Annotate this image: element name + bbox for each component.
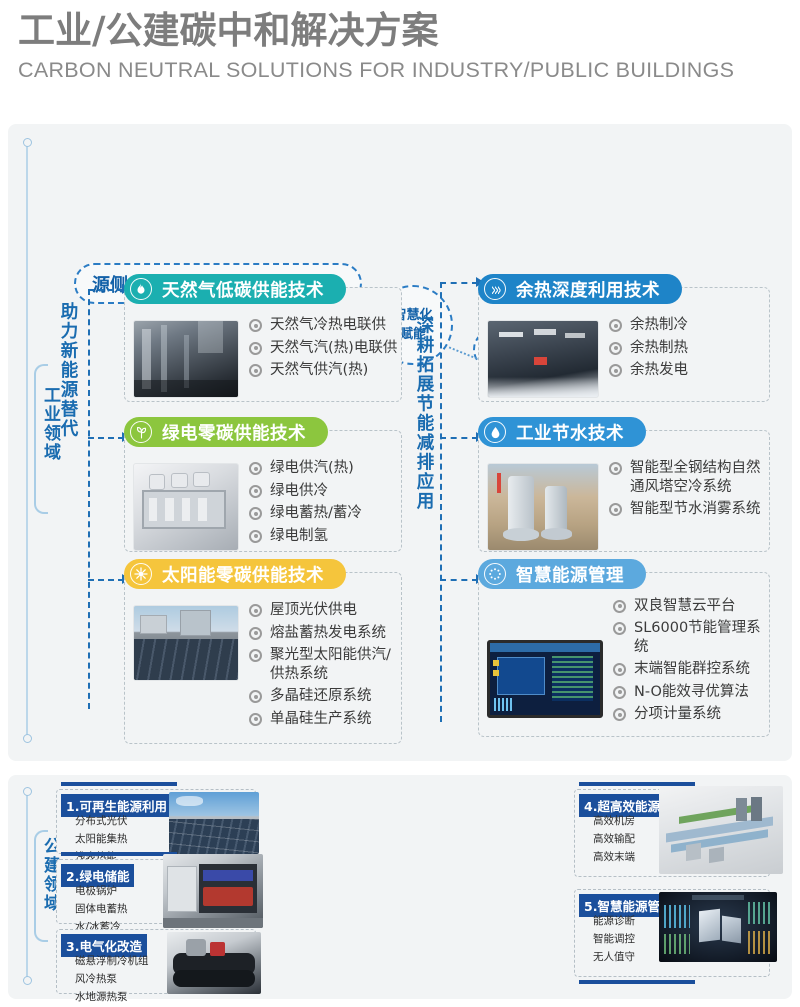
list-item: 绿电供汽(热) bbox=[249, 459, 401, 478]
bullet-ring-icon bbox=[613, 686, 626, 699]
list-item: 太阳能集热 bbox=[75, 830, 128, 848]
sprout-icon bbox=[130, 421, 152, 443]
card-waste-heat-items: 余热制冷 余热制热 余热发电 bbox=[599, 314, 769, 397]
bullet-ring-icon bbox=[249, 649, 262, 662]
card-solar-header[interactable]: 太阳能零碳供能技术 bbox=[124, 559, 346, 589]
list-item: 多晶硅还原系统 bbox=[249, 687, 401, 706]
bullet-ring-icon bbox=[249, 530, 262, 543]
list-item: 天然气冷热电联供 bbox=[249, 316, 401, 335]
card-green-power-header[interactable]: 绿电零碳供能技术 bbox=[124, 417, 328, 447]
list-item: 余热发电 bbox=[609, 361, 769, 380]
list-item: 屋顶光伏供电 bbox=[249, 601, 401, 620]
list-item: 绿电供冷 bbox=[249, 482, 401, 501]
mid-flow-label: 深耕拓展节能减排应用 bbox=[412, 316, 437, 511]
infographic-page: 工业/公建碳中和解决方案 CARBON NEUTRAL SOLUTIONS FO… bbox=[0, 0, 800, 1007]
card-green-power-items: 绿电供汽(热) 绿电供冷 绿电蓄热/蓄冷 绿电制氢 bbox=[239, 457, 401, 547]
page-title-en: CARBON NEUTRAL SOLUTIONS FOR INDUSTRY/PU… bbox=[18, 58, 788, 83]
card-green-power-title: 绿电零碳供能技术 bbox=[162, 420, 306, 445]
pcard-renewable-energy[interactable]: 1.可再生能源利用 分布式光伏 太阳能集热 浅表热能 bbox=[56, 789, 256, 854]
card-solar-items: 屋顶光伏供电 熔盐蓄热发电系统 聚光型太阳能供汽/供热系统 多晶硅还原系统 单晶… bbox=[239, 599, 401, 739]
rooftop-solar-photo bbox=[133, 605, 239, 681]
card-waste-heat[interactable]: 余热深度利用技术 余热制冷 余热制热 余热发电 bbox=[478, 287, 770, 402]
card-water-saving-items: 智能型全钢结构自然通风塔空冷系统 智能型节水消雾系统 bbox=[599, 457, 769, 547]
waste-heat-plant-photo bbox=[487, 320, 599, 398]
bullet-ring-icon bbox=[249, 713, 262, 726]
bullet-ring-icon bbox=[249, 507, 262, 520]
list-item: N-O能效寻优算法 bbox=[613, 683, 769, 702]
bullet-ring-icon bbox=[609, 342, 622, 355]
list-item: 无人值守 bbox=[593, 948, 635, 966]
pcard-top-bar bbox=[61, 782, 177, 786]
list-item: 水地源热泵 bbox=[75, 988, 149, 1006]
bullet-ring-icon bbox=[249, 462, 262, 475]
bullet-ring-icon bbox=[249, 485, 262, 498]
list-item: SL6000节能管理系统 bbox=[613, 619, 769, 656]
list-item: 智能调控 bbox=[593, 930, 635, 948]
pcard-electrification[interactable]: 3.电气化改造 磁悬浮制冷机组 风冷热泵 水地源热泵 bbox=[56, 929, 256, 994]
list-item: 聚光型太阳能供汽/供热系统 bbox=[249, 646, 401, 683]
bullet-ring-icon bbox=[613, 622, 626, 635]
list-item: 余热制热 bbox=[609, 339, 769, 358]
heat-waves-icon bbox=[484, 278, 506, 300]
card-water-saving-title: 工业节水技术 bbox=[516, 420, 624, 445]
card-smart-energy-header[interactable]: 智慧能源管理 bbox=[478, 559, 646, 589]
list-item: 高效输配 bbox=[593, 830, 635, 848]
natural-gas-plant-photo bbox=[133, 320, 239, 398]
pcard-electrification-items: 磁悬浮制冷机组 风冷热泵 水地源热泵 bbox=[75, 952, 149, 1006]
pcard-bottom-bar bbox=[579, 980, 695, 984]
list-item: 固体电蓄热 bbox=[75, 900, 128, 918]
cooling-tower-photo bbox=[487, 463, 599, 551]
list-item: 电极锅炉 bbox=[75, 882, 128, 900]
list-item: 绿电蓄热/蓄冷 bbox=[249, 504, 401, 523]
pcard-high-efficiency-system-items: 高效机房 高效输配 高效末端 bbox=[593, 812, 635, 866]
list-item: 余热制冷 bbox=[609, 316, 769, 335]
flame-icon bbox=[130, 278, 152, 300]
list-item: 末端智能群控系统 bbox=[613, 660, 769, 679]
pcard-top-bar bbox=[61, 852, 177, 856]
left-flow-label: 助力新能源替代 bbox=[56, 302, 81, 439]
smart-energy-dashboard bbox=[659, 892, 777, 962]
card-natural-gas-header[interactable]: 天然气低碳供能技术 bbox=[124, 274, 346, 304]
page-header: 工业/公建碳中和解决方案 CARBON NEUTRAL SOLUTIONS FO… bbox=[18, 10, 788, 83]
solar-array-photo bbox=[169, 792, 259, 854]
list-item: 分布式光伏 bbox=[75, 812, 128, 830]
green-power-equipment-photo bbox=[133, 463, 239, 551]
card-natural-gas-title: 天然气低碳供能技术 bbox=[162, 277, 324, 302]
card-water-saving-header[interactable]: 工业节水技术 bbox=[478, 417, 646, 447]
energy-system-3d-render bbox=[659, 786, 783, 874]
list-item: 风冷热泵 bbox=[75, 970, 149, 988]
list-item: 绿电制氢 bbox=[249, 527, 401, 546]
magnetic-chiller-photo bbox=[167, 932, 261, 994]
sun-icon bbox=[130, 563, 152, 585]
card-smart-energy[interactable]: 智慧能源管理 双良智慧云平台 SL6000节能管理系统 末端智能群控系统 N-O… bbox=[478, 572, 770, 737]
bullet-ring-icon bbox=[613, 663, 626, 676]
card-green-power[interactable]: 绿电零碳供能技术 绿电供汽(热) 绿电供冷 绿电蓄热/蓄冷 绿 bbox=[124, 430, 402, 552]
bullet-ring-icon bbox=[249, 319, 262, 332]
electrode-boiler-photo bbox=[163, 854, 263, 928]
bullet-ring-icon bbox=[613, 600, 626, 613]
list-item: 高效末端 bbox=[593, 848, 635, 866]
card-natural-gas[interactable]: 天然气低碳供能技术 天然气冷热电联供 天然气汽(热)电联供 天然气供汽(热) bbox=[124, 287, 402, 402]
list-item: 双良智慧云平台 bbox=[613, 597, 769, 616]
card-water-saving[interactable]: 工业节水技术 智能型全钢结构自然通风塔空冷系统 智能型节水消雾系统 bbox=[478, 430, 770, 552]
bullet-ring-icon bbox=[249, 627, 262, 640]
list-item: 能源诊断 bbox=[593, 912, 635, 930]
dotted-circle-icon bbox=[484, 563, 506, 585]
page-title-cn: 工业/公建碳中和解决方案 bbox=[18, 10, 788, 53]
list-item: 高效机房 bbox=[593, 812, 635, 830]
list-item: 智能型节水消雾系统 bbox=[609, 500, 769, 519]
water-drop-icon bbox=[484, 421, 506, 443]
pcard-green-storage[interactable]: 2.绿电储能 电极锅炉 固体电蓄热 水/冰蓄冷 bbox=[56, 859, 256, 924]
list-item: 天然气供汽(热) bbox=[249, 361, 401, 380]
list-item: 磁悬浮制冷机组 bbox=[75, 952, 149, 970]
bullet-ring-icon bbox=[249, 364, 262, 377]
list-item: 熔盐蓄热发电系统 bbox=[249, 624, 401, 643]
card-solar[interactable]: 太阳能零碳供能技术 屋顶光伏供电 熔盐蓄热发电系统 聚光型太阳能供汽/供热系统 … bbox=[124, 572, 402, 744]
scada-dashboard-photo bbox=[487, 640, 603, 718]
pcard-smart-energy-management-items: 能源诊断 智能调控 无人值守 bbox=[593, 912, 635, 966]
list-item: 分项计量系统 bbox=[613, 705, 769, 724]
bullet-ring-icon bbox=[249, 690, 262, 703]
bullet-ring-icon bbox=[613, 708, 626, 721]
list-item: 智能型全钢结构自然通风塔空冷系统 bbox=[609, 459, 769, 496]
industry-panel: 工业领域 源侧 （气、电、可再生能源替代） 智慧化 赋能 工艺侧/负荷侧 （工业… bbox=[8, 124, 792, 761]
card-solar-title: 太阳能零碳供能技术 bbox=[162, 562, 324, 587]
bullet-ring-icon bbox=[249, 604, 262, 617]
card-waste-heat-header[interactable]: 余热深度利用技术 bbox=[478, 274, 682, 304]
pcard-smart-energy-management[interactable]: 5.智慧能源管理 能源诊断 智能调控 无人值守 bbox=[574, 889, 770, 977]
pcard-high-efficiency-system[interactable]: 4.超高效能源系统 高效机房 高效输配 高效末端 bbox=[574, 789, 770, 877]
card-smart-energy-title: 智慧能源管理 bbox=[516, 562, 624, 587]
card-waste-heat-title: 余热深度利用技术 bbox=[516, 277, 660, 302]
bullet-ring-icon bbox=[249, 342, 262, 355]
list-item: 天然气汽(热)电联供 bbox=[249, 339, 401, 358]
bullet-ring-icon bbox=[609, 462, 622, 475]
bullet-ring-icon bbox=[609, 319, 622, 332]
card-smart-energy-items: 双良智慧云平台 SL6000节能管理系统 末端智能群控系统 N-O能效寻优算法 … bbox=[603, 595, 769, 732]
card-natural-gas-items: 天然气冷热电联供 天然气汽(热)电联供 天然气供汽(热) bbox=[239, 314, 401, 397]
bullet-ring-icon bbox=[609, 364, 622, 377]
list-item: 单晶硅生产系统 bbox=[249, 710, 401, 729]
public-buildings-panel: 公建领域 绿色低碳智慧能源系统 1.可再生能源利用 分布式 bbox=[8, 775, 792, 999]
bullet-ring-icon bbox=[609, 503, 622, 516]
